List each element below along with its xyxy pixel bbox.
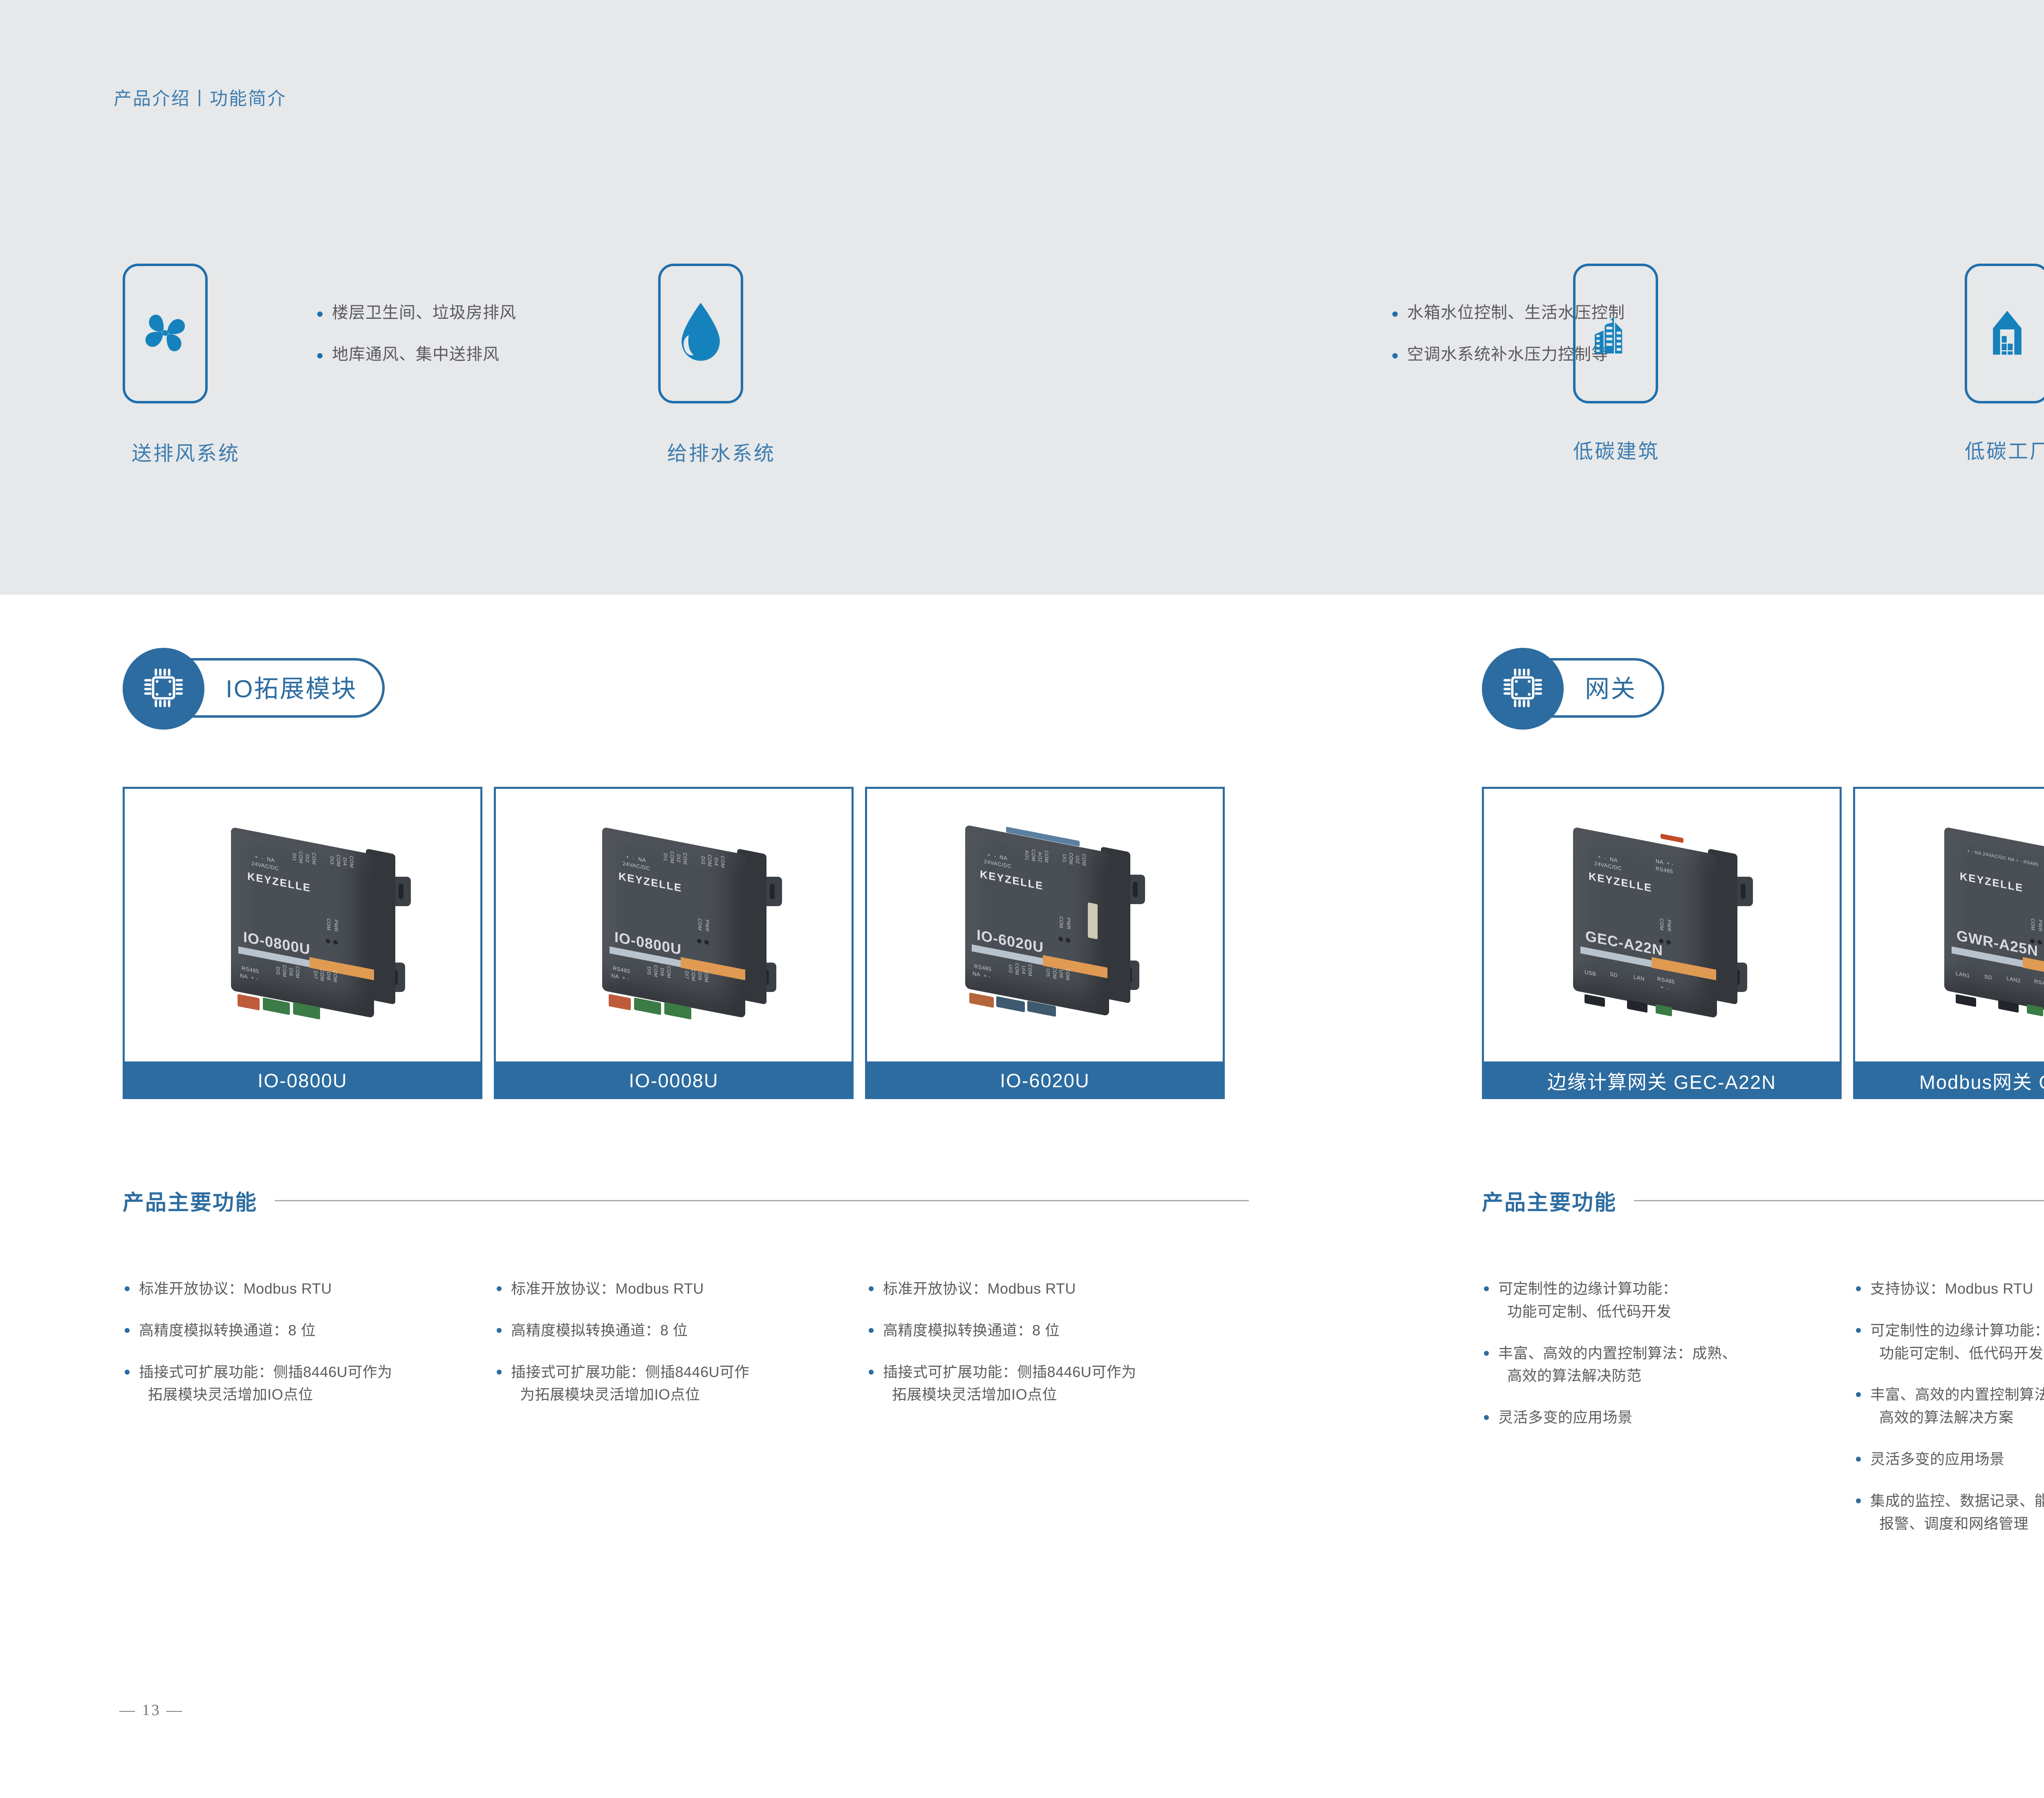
functions-column: 标准开放协议：Modbus RTU 高精度模拟转换通道：8 位 插接式可扩展功能… [867,1277,1239,1425]
list-item-text: 灵活多变的应用场景 [1870,1451,2005,1467]
fan-icon [138,306,192,362]
heading-rule [1634,1200,2044,1201]
list-item-text: 可定制性的边缘计算功能： [1498,1280,1677,1297]
list-item: 高精度模拟转换通道：8 位 [495,1319,867,1342]
list-item: 高精度模拟转换通道：8 位 [867,1319,1239,1342]
heading-rule [275,1200,1249,1201]
functions-columns: 标准开放协议：Modbus RTU 高精度模拟转换通道：8 位 插接式可扩展功能… [123,1277,1249,1425]
office-building-icon [1588,305,1643,362]
chip-icon [1499,664,1547,714]
list-item: 丰富、高效的内置控制算法：成熟、 高效的算法解决方案 [1854,1383,2044,1429]
factory-icon-box [1965,264,2044,403]
product-photo: KEYZELLE GWR-A25N + - NA 24VAC/DC NA + -… [1853,787,2044,1061]
list-item: 楼层卫生间、垃圾房排风 [315,305,516,321]
page-number-left: — 13 — [119,1701,184,1719]
list-item-text: 高精度模拟转换通道：8 位 [139,1322,316,1339]
product-card[interactable]: KEYZELLE IO-6020U + - NA 24VAC/DC AO1 CO… [865,787,1225,1099]
water-icon-box [658,264,743,403]
list-item: 插接式可扩展功能：侧插8446U可作为 拓展模块灵活增加IO点位 [867,1361,1239,1406]
list-item-text: 丰富、高效的内置控制算法：成熟、 [1870,1386,2044,1403]
functions-column: 标准开放协议：Modbus RTU 高精度模拟转换通道：8 位 插接式可扩展功能… [123,1277,495,1425]
list-item: 地库通风、集中送排风 [315,346,516,363]
main-functions-header: 产品主要功能 [1482,1185,2044,1216]
product-card-row-gateway: KEYZELLE GEC-A22N + - NA 24VAC/DC NA + -… [1482,787,2044,1099]
product-caption: Modbus网关 GWR-A25N [1853,1061,2044,1099]
product-card[interactable]: KEYZELLE IO-0800U + - NA 24VAC/DC DI1 CO… [123,787,482,1099]
section-heading: 产品主要功能 [1482,1185,1617,1216]
running-header-left: 产品介绍丨功能简介 [114,84,287,110]
functions-column: 标准开放协议：Modbus RTU 高精度模拟转换通道：8 位 插接式可扩展功能… [495,1277,867,1425]
list-item-text: 插接式可扩展功能：侧插8446U可作 [511,1364,749,1380]
list-item-continuation: 功能可定制、低代码开发 [1870,1342,2044,1365]
list-item-text: 标准开放协议：Modbus RTU [139,1280,332,1297]
list-item-continuation: 高效的算法解决方案 [1870,1406,2044,1429]
list-item-text: 高精度模拟转换通道：8 位 [511,1322,688,1339]
building-icon-box [1573,264,1658,403]
product-card[interactable]: KEYZELLE GWR-A25N + - NA 24VAC/DC NA + -… [1853,787,2044,1099]
product-photo: KEYZELLE IO-6020U + - NA 24VAC/DC AO1 CO… [865,787,1225,1061]
functions-columns: 可定制性的边缘计算功能： 功能可定制、低代码开发 丰富、高效的内置控制算法：成熟… [1482,1277,2044,1554]
list-item-text: 集成的监控、数据记录、能耗计量、 [1870,1492,2044,1509]
list-item: 标准开放协议：Modbus RTU [495,1277,867,1300]
section-heading: 产品主要功能 [123,1185,258,1216]
product-caption: IO-0008U [494,1061,854,1099]
list-item-continuation: 功能可定制、低代码开发 [1498,1300,1854,1323]
lowcarbon-building-label: 低碳建筑 [1573,435,1658,464]
product-card-row-io: KEYZELLE IO-0800U + - NA 24VAC/DC DI1 CO… [123,787,1225,1099]
product-photo: KEYZELLE IO-0800U + - NA 24VAC/DC DI1 CO… [494,787,854,1061]
product-card[interactable]: KEYZELLE IO-0800U + - NA 24VAC/DC DI1 CO… [494,787,854,1099]
lowcarbon-factory-label: 低碳工厂 [1965,435,2044,464]
list-item-text: 高精度模拟转换通道：8 位 [883,1322,1060,1339]
main-functions-header: 产品主要功能 [123,1185,1249,1216]
section-title-io: IO拓展模块 [226,669,357,705]
list-item: 标准开放协议：Modbus RTU [867,1277,1239,1300]
list-item: 标准开放协议：Modbus RTU [123,1277,495,1300]
list-item-continuation: 拓展模块灵活增加IO点位 [139,1383,495,1406]
list-item: 高精度模拟转换通道：8 位 [123,1319,495,1342]
list-item: 插接式可扩展功能：侧插8446U可作为 拓展模块灵活增加IO点位 [123,1361,495,1406]
chip-icon [139,664,188,714]
list-item-continuation: 为拓展模块灵活增加IO点位 [511,1383,867,1406]
list-item: 灵活多变的应用场景 [1482,1406,1854,1429]
lowcarbon-building-block: 低碳建筑 [1573,264,1658,464]
list-item-continuation: 报警、调度和网络管理 [1870,1512,2044,1535]
list-item-text: 插接式可扩展功能：侧插8446U可作为 [883,1364,1136,1380]
functions-column: 可定制性的边缘计算功能： 功能可定制、低代码开发 丰富、高效的内置控制算法：成熟… [1482,1277,1854,1554]
list-item-text: 支持协议：Modbus RTU [1870,1280,2033,1297]
product-caption: IO-0800U [123,1061,482,1099]
top-grey-band [0,0,2044,595]
list-item-text: 标准开放协议：Modbus RTU [883,1280,1076,1297]
factory-icon [1980,305,2035,362]
main-functions-io: 产品主要功能 标准开放协议：Modbus RTU 高精度模拟转换通道：8 位 插… [123,1185,1249,1425]
main-functions-gateway: 产品主要功能 可定制性的边缘计算功能： 功能可定制、低代码开发 丰富、高效的内置… [1482,1185,2044,1554]
list-item-continuation: 高效的算法解决防范 [1498,1364,1854,1387]
list-item-text: 丰富、高效的内置控制算法：成熟、 [1498,1345,1737,1361]
list-item: 灵活多变的应用场景 [1854,1448,2044,1471]
feature-label-water: 给排水系统 [667,437,775,466]
section-title-gateway: 网关 [1585,669,1636,705]
product-card[interactable]: KEYZELLE GEC-A22N + - NA 24VAC/DC NA + -… [1482,787,1842,1099]
list-item-continuation: 拓展模块灵活增加IO点位 [883,1383,1239,1406]
chip-icon-circle-gateway [1482,648,1564,730]
chip-icon-circle-io [123,648,204,730]
brochure-page: 产品介绍丨功能简介 产品介绍丨功能简介 楼层卫生间、垃圾房排风 地库通风、集中送… [0,0,2044,1798]
product-photo: KEYZELLE IO-0800U + - NA 24VAC/DC DI1 CO… [123,787,482,1061]
functions-column: 支持协议：Modbus RTU 可定制性的边缘计算功能： 功能可定制、低代码开发… [1854,1277,2044,1554]
list-item: 集成的监控、数据记录、能耗计量、 报警、调度和网络管理 [1854,1489,2044,1535]
list-item-text: 灵活多变的应用场景 [1498,1409,1633,1426]
product-caption: 边缘计算网关 GEC-A22N [1482,1061,1842,1099]
list-item: 支持协议：Modbus RTU [1854,1277,2044,1300]
product-photo: KEYZELLE GEC-A22N + - NA 24VAC/DC NA + -… [1482,787,1842,1061]
fan-icon-box [123,264,208,403]
water-drop-icon [677,302,725,366]
list-item-text: 标准开放协议：Modbus RTU [511,1280,704,1297]
list-item-text: 可定制性的边缘计算功能： [1870,1322,2044,1339]
list-item: 丰富、高效的内置控制算法：成熟、 高效的算法解决防范 [1482,1342,1854,1388]
lowcarbon-factory-block: 低碳工厂 [1965,264,2044,464]
feature-label-ventilation: 送排风系统 [132,437,240,466]
list-item: 可定制性的边缘计算功能： 功能可定制、低代码开发 [1854,1319,2044,1365]
ventilation-bullet-list: 楼层卫生间、垃圾房排风 地库通风、集中送排风 [315,305,516,388]
product-caption: IO-6020U [865,1061,1225,1099]
list-item: 插接式可扩展功能：侧插8446U可作 为拓展模块灵活增加IO点位 [495,1361,867,1406]
list-item-text: 插接式可扩展功能：侧插8446U可作为 [139,1364,392,1380]
list-item: 可定制性的边缘计算功能： 功能可定制、低代码开发 [1482,1277,1854,1323]
